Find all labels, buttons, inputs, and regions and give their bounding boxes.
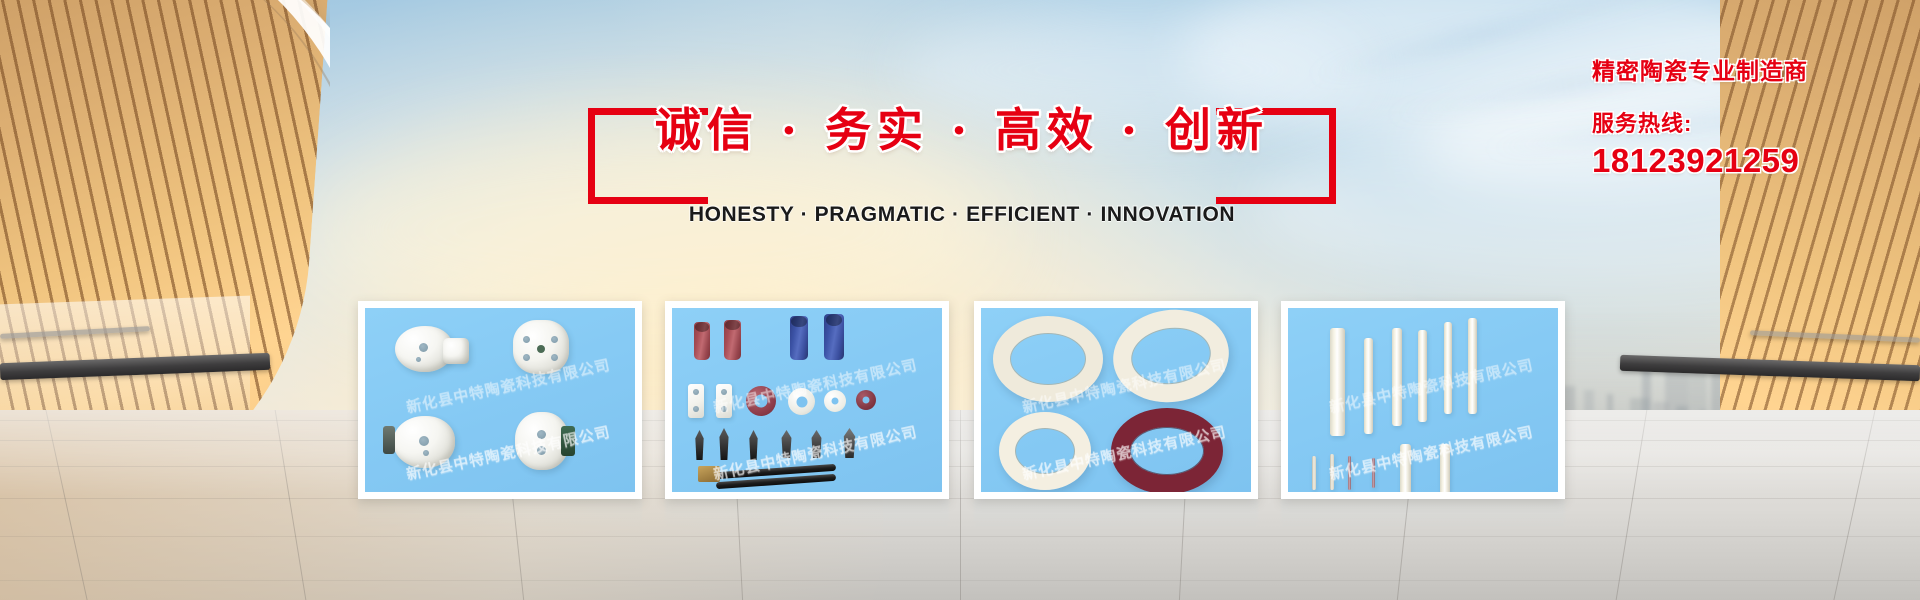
ceramic-ring-white: [993, 316, 1103, 402]
ceramic-washer-red: [856, 390, 876, 410]
ceramic-pin: [1312, 456, 1316, 490]
product-panel-ceramic-rods[interactable]: 新化县中特陶瓷科技有限公司 新化县中特陶瓷科技有限公司: [1281, 301, 1565, 499]
ceramic-rod: [1330, 328, 1345, 436]
phone-number[interactable]: 18123921259: [1592, 142, 1852, 180]
slogan-chinese: 诚信 · 务实 · 高效 · 创新: [588, 94, 1336, 160]
slogan-english: HONESTY · PRAGMATIC · EFFICIENT · INNOVA…: [588, 203, 1336, 227]
ceramic-rod-short: [1400, 444, 1411, 492]
product-panel-ceramic-rings[interactable]: 新化县中特陶瓷科技有限公司 新化县中特陶瓷科技有限公司: [974, 301, 1258, 499]
ceramic-rod-short: [1440, 444, 1450, 492]
metal-contact: [561, 426, 575, 456]
ceramic-ring-white: [1107, 308, 1235, 410]
panel-canvas: 新化县中特陶瓷科技有限公司 新化县中特陶瓷科技有限公司: [981, 308, 1251, 492]
ceramic-blade: [748, 430, 759, 460]
ceramic-blade: [694, 430, 705, 460]
product-panel-ceramic-housings[interactable]: 新化县中特陶瓷科技有限公司 新化县中特陶瓷科技有限公司: [358, 301, 642, 499]
wire-connector-brass: [698, 466, 720, 482]
ceramic-rod: [1392, 328, 1402, 426]
ceramic-blade: [780, 430, 793, 458]
ceramic-rod: [1418, 330, 1427, 422]
ceramic-rod: [1444, 322, 1452, 414]
contact-headline: 精密陶瓷专业制造商: [1592, 52, 1852, 86]
ceramic-rod: [1364, 338, 1373, 434]
ceramic-washer-white: [824, 390, 846, 412]
ceramic-blade: [810, 430, 823, 458]
ceramic-pin-pink: [1372, 458, 1375, 488]
slogan-block: 诚信 · 务实 · 高效 · 创新 HONESTY · PRAGMATIC · …: [588, 108, 1336, 208]
ceramic-pin: [1330, 454, 1334, 490]
ceramic-housing: [393, 416, 455, 468]
ceramic-tube-blue: [824, 314, 844, 360]
promotional-banner: 诚信 · 务实 · 高效 · 创新 HONESTY · PRAGMATIC · …: [0, 0, 1920, 600]
metal-contact: [383, 426, 395, 454]
ceramic-flange: [513, 320, 569, 374]
ceramic-blade: [842, 428, 857, 458]
floor-sheen: [0, 410, 1920, 496]
ceramic-plate: [688, 384, 704, 418]
ceramic-rod: [1468, 318, 1477, 414]
reflective-tile-floor: [0, 410, 1920, 600]
panel-canvas: 新化县中特陶瓷科技有限公司 新化县中特陶瓷科技有限公司: [1288, 308, 1558, 492]
ceramic-tube-red: [724, 320, 741, 360]
ceramic-plate: [716, 384, 732, 418]
ceramic-ring-red: [1111, 408, 1223, 492]
ceramic-washer-white: [788, 388, 815, 415]
product-panel-ceramic-tubes[interactable]: 新化县中特陶瓷科技有限公司 新化县中特陶瓷科技有限公司: [665, 301, 949, 499]
ceramic-ring-white: [999, 412, 1091, 490]
ceramic-blade: [718, 428, 730, 460]
hotline-label: 服务热线:: [1592, 106, 1852, 138]
ceramic-tube-red: [694, 322, 710, 360]
ceramic-pin-pink: [1348, 456, 1351, 490]
panel-canvas: 新化县中特陶瓷科技有限公司 新化县中特陶瓷科技有限公司: [672, 308, 942, 492]
panel-canvas: 新化县中特陶瓷科技有限公司 新化县中特陶瓷科技有限公司: [365, 308, 635, 492]
ceramic-washer-red: [746, 386, 776, 416]
ceramic-tube-blue: [790, 316, 808, 360]
ceramic-housing-stem: [443, 338, 469, 364]
contact-block: 精密陶瓷专业制造商 服务热线: 18123921259: [1592, 52, 1852, 180]
